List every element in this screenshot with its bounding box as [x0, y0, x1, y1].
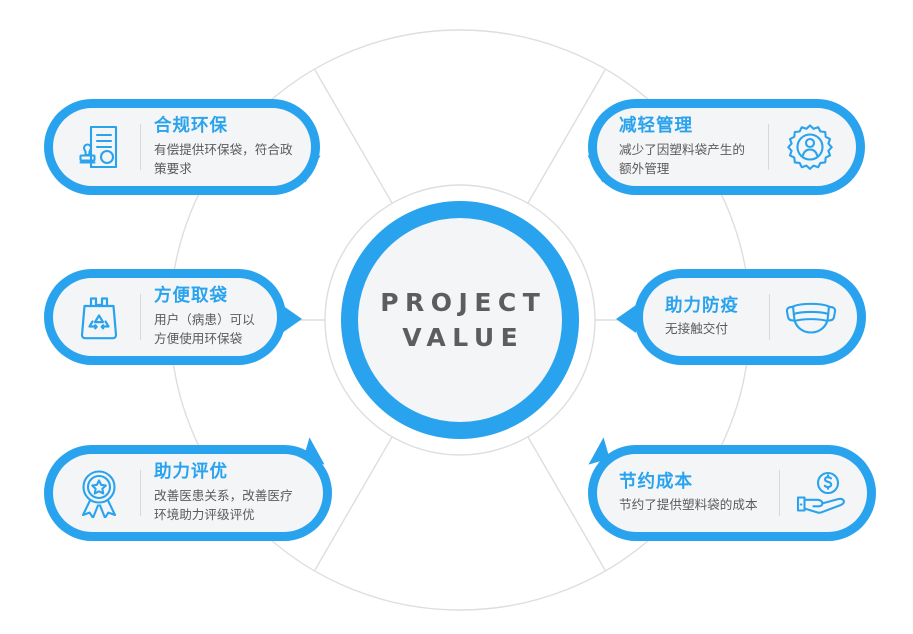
center-hub: PROJECT VALUE [341, 201, 579, 439]
card-title: 减轻管理 [619, 115, 755, 139]
card-divider [140, 470, 141, 516]
card-divider [769, 294, 770, 340]
card-title: 方便取袋 [154, 285, 259, 309]
card-tail-epidemic [616, 305, 636, 333]
hub-title-line1: PROJECT [374, 285, 547, 321]
card-desc: 减少了因塑料袋产生的额外管理 [619, 141, 755, 179]
face-mask-icon [783, 297, 839, 337]
card-title: 助力防疫 [665, 295, 756, 319]
card-desc: 有偿提供环保袋，符合政策要求 [154, 141, 293, 179]
value-card-evaluation[interactable]: 助力评优 改善医患关系，改善医疗环境助力评级评优 [44, 445, 332, 541]
value-card-management[interactable]: 减轻管理 减少了因塑料袋产生的额外管理 [588, 99, 865, 195]
card-divider [768, 124, 769, 170]
gear-person-icon [782, 123, 838, 171]
card-divider [779, 470, 780, 516]
card-title: 合规环保 [154, 115, 293, 139]
value-card-compliance[interactable]: 合规环保 有偿提供环保袋，符合政策要求 [44, 99, 320, 195]
value-card-epidemic[interactable]: 助力防疫 无接触交付 [634, 269, 866, 365]
award-medal-icon [71, 468, 127, 518]
recycle-bag-icon [71, 294, 127, 340]
card-divider [140, 124, 141, 170]
value-card-cost[interactable]: 节约成本 节约了提供塑料袋的成本 [588, 445, 876, 541]
card-divider [140, 294, 141, 340]
card-title: 助力评优 [154, 461, 305, 485]
project-value-diagram: 合规环保 有偿提供环保袋，符合政策要求 减轻管理 减少了因塑料袋产生的额外管理 [0, 0, 913, 634]
value-card-convenience[interactable]: 方便取袋 用户（病患）可以方便使用环保袋 [44, 269, 286, 365]
hand-money-icon [793, 471, 849, 515]
card-title: 节约成本 [619, 471, 766, 495]
document-stamp-icon [71, 124, 127, 170]
card-desc: 节约了提供塑料袋的成本 [619, 496, 766, 515]
hub-title-line2: VALUE [396, 320, 524, 356]
card-desc: 改善医患关系，改善医疗环境助力评级评优 [154, 487, 305, 525]
card-desc: 无接触交付 [665, 320, 756, 339]
card-desc: 用户（病患）可以方便使用环保袋 [154, 311, 259, 349]
spoke-top-left [315, 70, 392, 203]
